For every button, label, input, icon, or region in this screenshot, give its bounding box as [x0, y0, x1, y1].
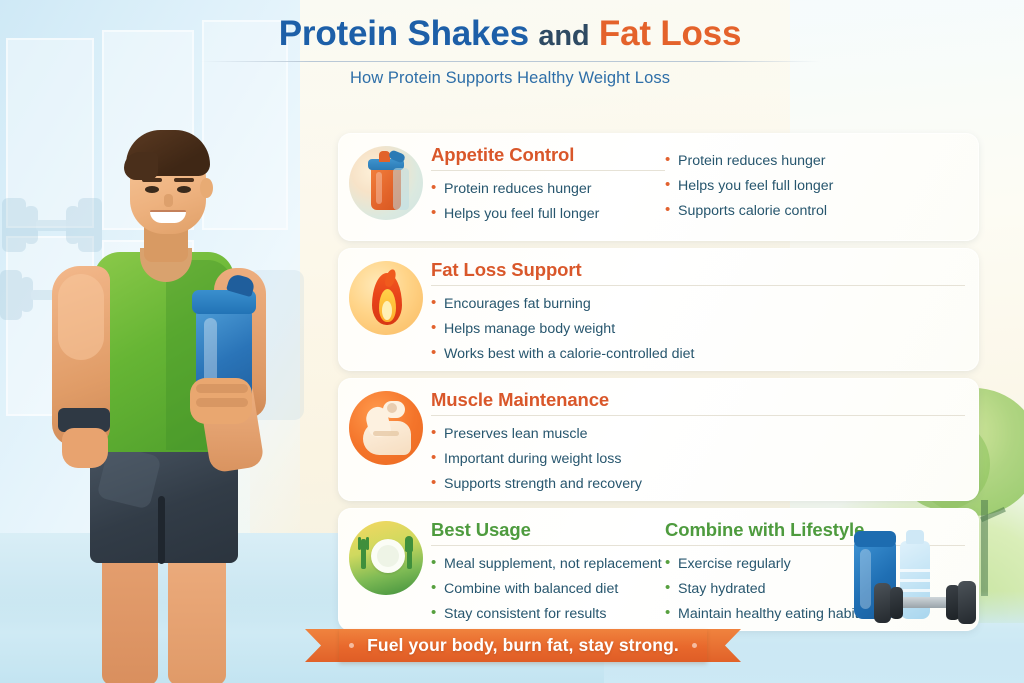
- hand-left: [62, 428, 108, 468]
- flexed-bicep-icon: [349, 391, 423, 465]
- list-item: Stay consistent for results: [431, 601, 665, 626]
- page-title: Protein Shakes and Fat Loss: [200, 14, 820, 54]
- arm-left-bicep: [58, 274, 104, 360]
- flame-icon: [349, 261, 423, 335]
- nose: [164, 194, 173, 207]
- list-item: Helps you feel full longer: [665, 173, 965, 198]
- person-illustration: [28, 78, 328, 683]
- finger-1: [196, 384, 248, 393]
- shaker-bottle-icon: [349, 146, 423, 220]
- card-muscle-maintenance[interactable]: Muscle Maintenance Preserves lean muscle…: [338, 378, 979, 501]
- card-column-left: Appetite Control Protein reduces hunger …: [431, 144, 665, 230]
- list-item: Combine with balanced diet: [431, 576, 665, 601]
- water-bottle-rib-2: [900, 579, 930, 582]
- finger-2: [196, 398, 248, 407]
- card-fat-loss-support[interactable]: Fat Loss Support Encourages fat burning …: [338, 248, 979, 371]
- plate-cutlery-icon: [349, 521, 423, 595]
- title-part-2: Fat Loss: [599, 14, 741, 53]
- blue-shaker-lid: [854, 531, 896, 547]
- list-item: Meal supplement, not replacement: [431, 551, 665, 576]
- eyebrow-right: [174, 178, 194, 182]
- ear-right: [200, 178, 213, 198]
- ribbon-text: Fuel your body, burn fat, stay strong.: [305, 629, 741, 662]
- card-column-right: Protein reduces hunger Helps you feel fu…: [665, 144, 965, 230]
- title-conjunction: and: [538, 20, 589, 52]
- list-item: Works best with a calorie-controlled die…: [431, 341, 965, 366]
- card-bullet-list: Meal supplement, not replacement Combine…: [431, 551, 665, 626]
- water-bottle-cap: [906, 530, 924, 544]
- list-item: Supports calorie control: [665, 198, 965, 223]
- page-subtitle: How Protein Supports Healthy Weight Loss: [200, 69, 820, 88]
- shorts-split: [158, 496, 165, 564]
- list-item: Supports strength and recovery: [431, 471, 965, 496]
- card-title: Best Usage: [431, 519, 665, 546]
- card-bullet-list: Preserves lean muscle Important during w…: [431, 421, 965, 496]
- eye-left: [145, 186, 159, 193]
- eye-right: [177, 186, 191, 193]
- title-part-1: Protein Shakes: [279, 14, 529, 53]
- card-column-left: Best Usage Meal supplement, not replacem…: [431, 519, 665, 620]
- title-divider: [200, 61, 820, 62]
- list-item: Helps you feel full longer: [431, 201, 665, 226]
- dumbbell-plate-left-outer: [874, 583, 891, 623]
- eyebrow-left: [142, 178, 162, 182]
- water-bottle-rib-1: [900, 569, 930, 572]
- dumbbell-plate-right-outer: [958, 581, 976, 624]
- blue-shaker-highlight: [860, 549, 871, 609]
- list-item: Helps manage body weight: [431, 316, 965, 341]
- smile: [150, 210, 186, 223]
- card-title: Appetite Control: [431, 144, 665, 171]
- card-appetite-control[interactable]: Appetite Control Protein reduces hunger …: [338, 133, 979, 241]
- header: Protein Shakes and Fat Loss How Protein …: [200, 14, 820, 88]
- card-column-left: Muscle Maintenance Preserves lean muscle…: [431, 389, 965, 490]
- list-item: Preserves lean muscle: [431, 421, 965, 446]
- hair-fringe: [124, 152, 158, 180]
- list-item: Protein reduces hunger: [431, 176, 665, 201]
- card-bullet-list-secondary: Protein reduces hunger Helps you feel fu…: [665, 144, 965, 223]
- card-title: Muscle Maintenance: [431, 389, 965, 416]
- card-column-left: Fat Loss Support Encourages fat burning …: [431, 259, 965, 360]
- card-bullet-list: Encourages fat burning Helps manage body…: [431, 291, 965, 366]
- list-item: Important during weight loss: [431, 446, 965, 471]
- list-item: Protein reduces hunger: [665, 148, 965, 173]
- water-bottle-rib-3: [900, 589, 930, 592]
- dumbbell-plate-left-inner: [890, 587, 903, 619]
- product-illustration: [848, 525, 1008, 633]
- tagline-ribbon: Fuel your body, burn fat, stay strong.: [305, 629, 741, 662]
- card-title: Fat Loss Support: [431, 259, 965, 286]
- list-item: Encourages fat burning: [431, 291, 965, 316]
- card-bullet-list: Protein reduces hunger Helps you feel fu…: [431, 176, 665, 226]
